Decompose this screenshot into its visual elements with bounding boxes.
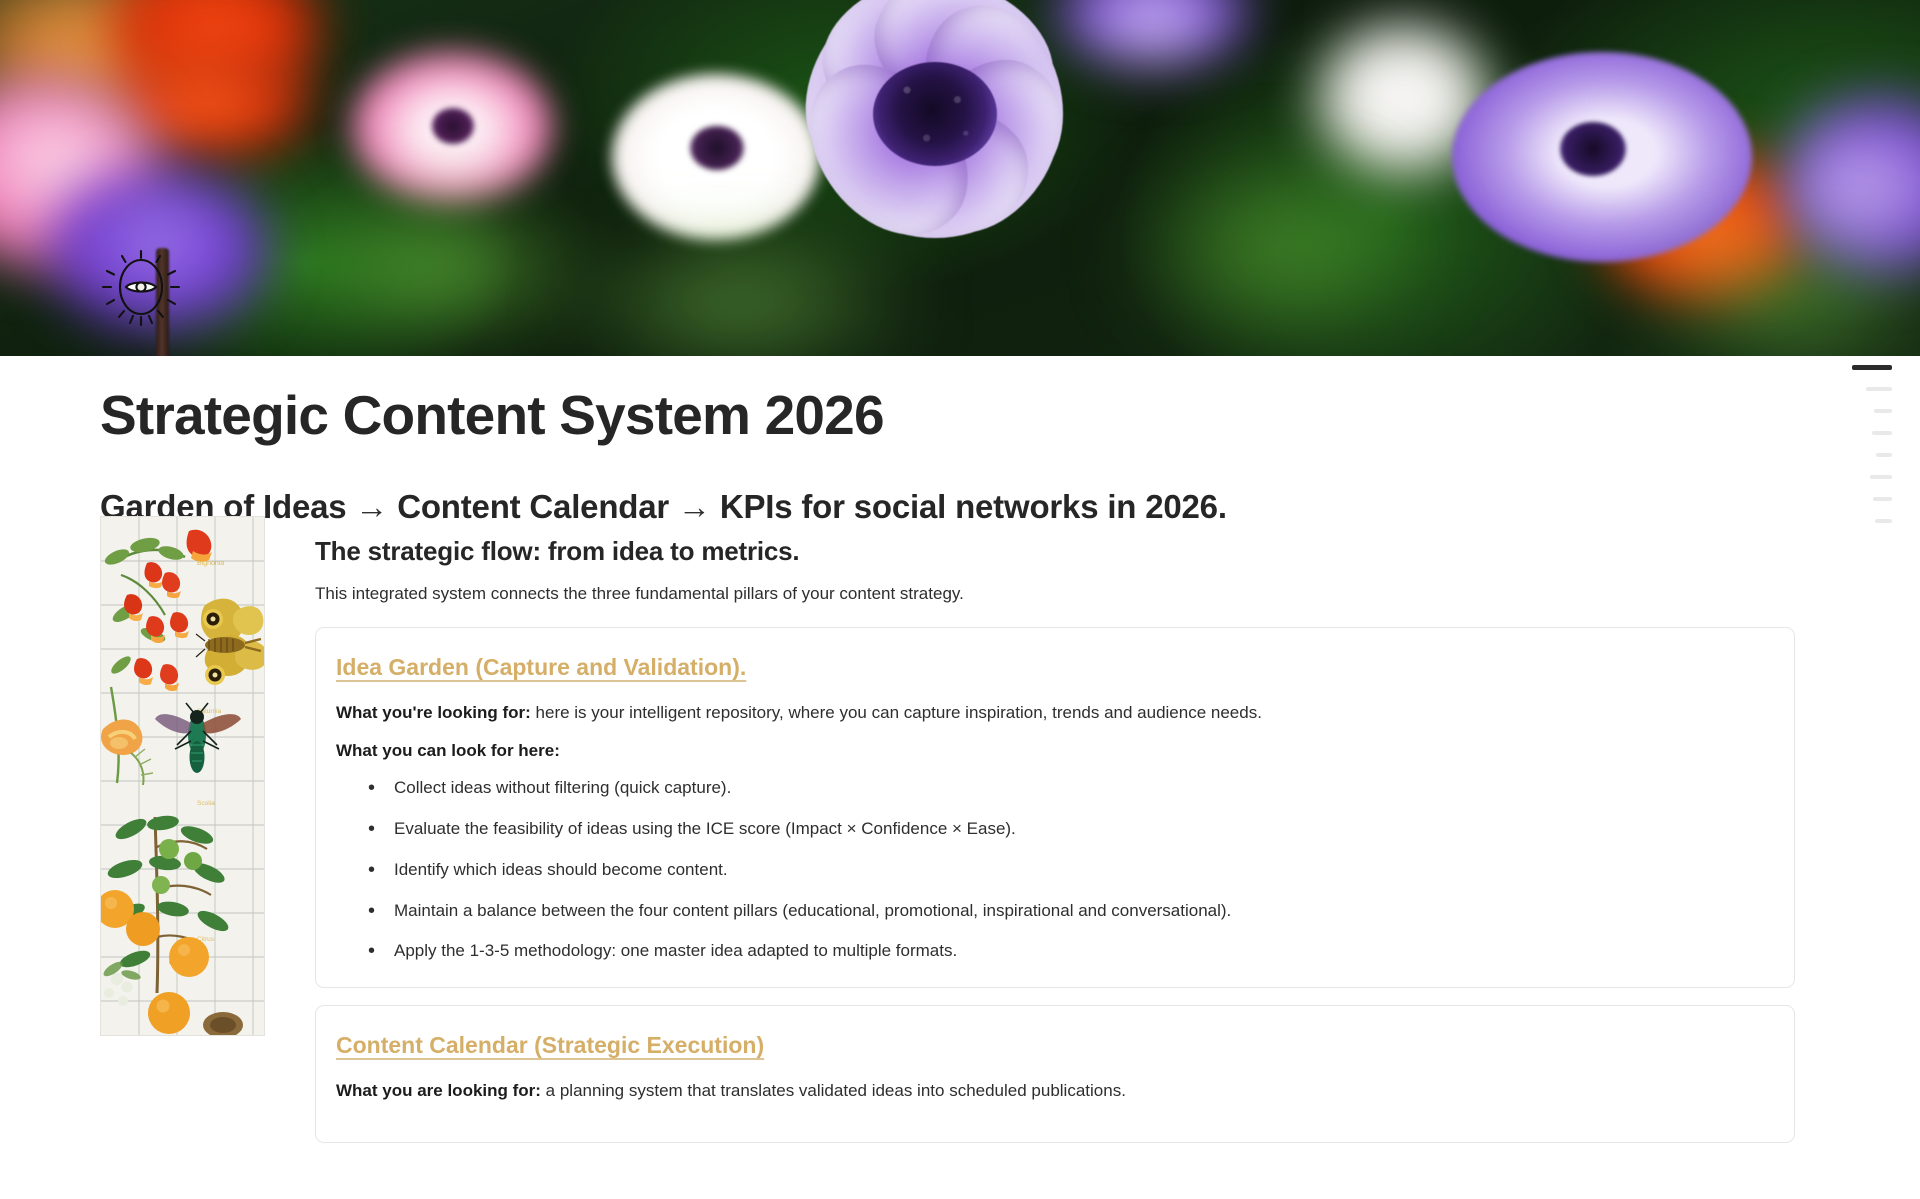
list-item: Maintain a balance between the four cont… bbox=[364, 899, 1774, 923]
hero-banner bbox=[0, 0, 1920, 356]
foliage-highlight-3 bbox=[1120, 150, 1440, 350]
find-here-line: What you can look for here: bbox=[336, 739, 1774, 764]
list-item: Evaluate the feasibility of ideas using … bbox=[364, 817, 1774, 841]
page-title: Strategic Content System 2026 bbox=[100, 383, 884, 447]
card-idea-garden: Idea Garden (Capture and Validation). Wh… bbox=[315, 627, 1795, 988]
svg-text:Bignonia: Bignonia bbox=[197, 560, 224, 567]
toc-item[interactable] bbox=[1836, 510, 1902, 532]
toc-item[interactable] bbox=[1836, 356, 1902, 378]
pink-anemone-center bbox=[432, 108, 474, 144]
toc-item[interactable] bbox=[1836, 378, 1902, 400]
toc-item[interactable] bbox=[1836, 400, 1902, 422]
looking-for-text: here is your intelligent repository, whe… bbox=[531, 703, 1262, 722]
foliage-highlight-1 bbox=[300, 198, 600, 338]
purple-anemone-right-center bbox=[1560, 122, 1626, 176]
breadcrumb: Garden of Ideas→Content Calendar→KPIs fo… bbox=[100, 488, 1227, 526]
list-item: Collect ideas without filtering (quick c… bbox=[364, 776, 1774, 800]
table-of-contents-minimap[interactable] bbox=[1836, 356, 1902, 532]
looking-for-line: What you're looking for: here is your in… bbox=[336, 701, 1774, 726]
foliage-highlight-2 bbox=[560, 236, 920, 356]
idea-garden-link[interactable]: Idea Garden (Capture and Validation). bbox=[336, 654, 746, 681]
toc-item[interactable] bbox=[1836, 422, 1902, 444]
toc-item[interactable] bbox=[1836, 444, 1902, 466]
page-root: Strategic Content System 2026 Garden of … bbox=[0, 0, 1920, 1199]
looking-for-label: What you are looking for: bbox=[336, 1081, 541, 1100]
list-item: Apply the 1-3-5 methodology: one master … bbox=[364, 939, 1774, 963]
list-item: Identify which ideas should become conte… bbox=[364, 858, 1774, 882]
idea-garden-bullet-list: Collect ideas without filtering (quick c… bbox=[364, 776, 1774, 963]
breadcrumb-step-3: KPIs for social networks in 2026. bbox=[720, 488, 1227, 525]
white-anemone-center bbox=[690, 126, 744, 170]
breadcrumb-step-2: Content Calendar bbox=[397, 488, 669, 525]
looking-for-text: a planning system that translates valida… bbox=[541, 1081, 1126, 1100]
section-heading: The strategic flow: from idea to metrics… bbox=[315, 536, 1795, 567]
looking-for-label: What you're looking for: bbox=[336, 703, 531, 722]
breadcrumb-arrow-1: → bbox=[346, 488, 397, 525]
main-content: The strategic flow: from idea to metrics… bbox=[315, 536, 1795, 1160]
botanical-artwork: Bignonia Saturnia bbox=[101, 517, 265, 1036]
toc-item[interactable] bbox=[1836, 466, 1902, 488]
section-intro: This integrated system connects the thre… bbox=[315, 584, 1795, 604]
svg-text:Citrus: Citrus bbox=[197, 936, 215, 943]
breadcrumb-arrow-2: → bbox=[669, 488, 720, 525]
anemone-stamen-center bbox=[873, 62, 997, 166]
toc-item[interactable] bbox=[1836, 488, 1902, 510]
botanical-plate-illustration: Bignonia Saturnia bbox=[100, 516, 265, 1036]
radiant-eye-icon bbox=[100, 247, 182, 329]
hero-flower-photo bbox=[0, 0, 1920, 356]
svg-text:Scolia: Scolia bbox=[197, 800, 215, 807]
content-calendar-link[interactable]: Content Calendar (Strategic Execution) bbox=[336, 1032, 764, 1059]
card-content-calendar: Content Calendar (Strategic Execution) W… bbox=[315, 1005, 1795, 1143]
purple-anemone bbox=[770, 0, 1100, 264]
find-here-label: What you can look for here: bbox=[336, 741, 560, 760]
looking-for-line: What you are looking for: a planning sys… bbox=[336, 1079, 1774, 1104]
